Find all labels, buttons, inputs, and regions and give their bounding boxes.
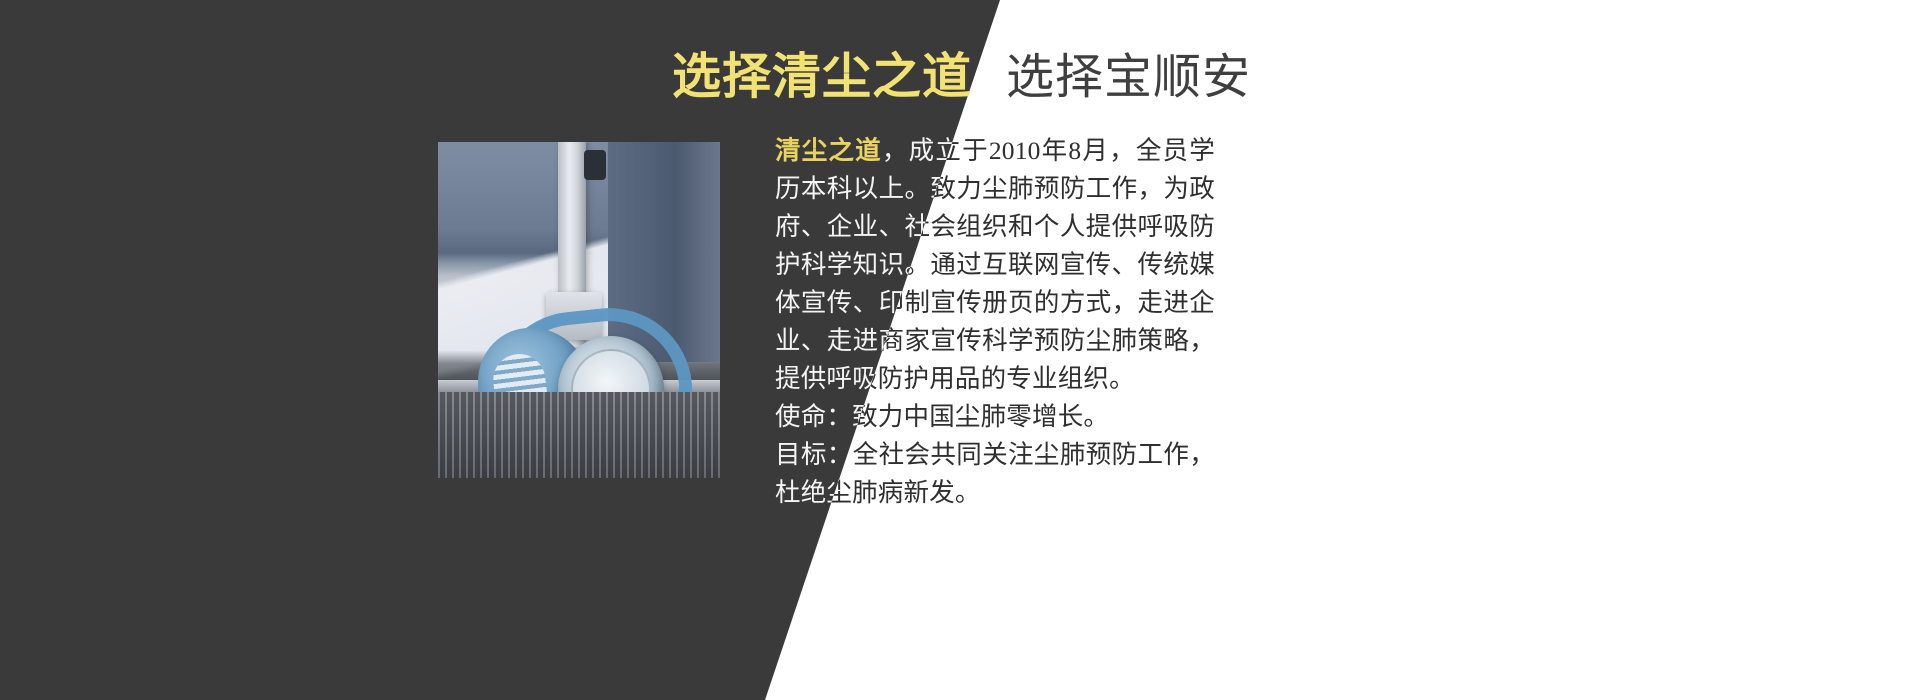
product-photo <box>438 142 720 478</box>
machine-knob <box>584 150 606 180</box>
machine-grating-floor <box>438 392 720 478</box>
photo-image <box>438 142 720 478</box>
banner-stage: 选择清尘之道选择宝顺安 清尘之道，成立于2010年8月，全员学历本科以上。致力尘… <box>0 0 1920 700</box>
